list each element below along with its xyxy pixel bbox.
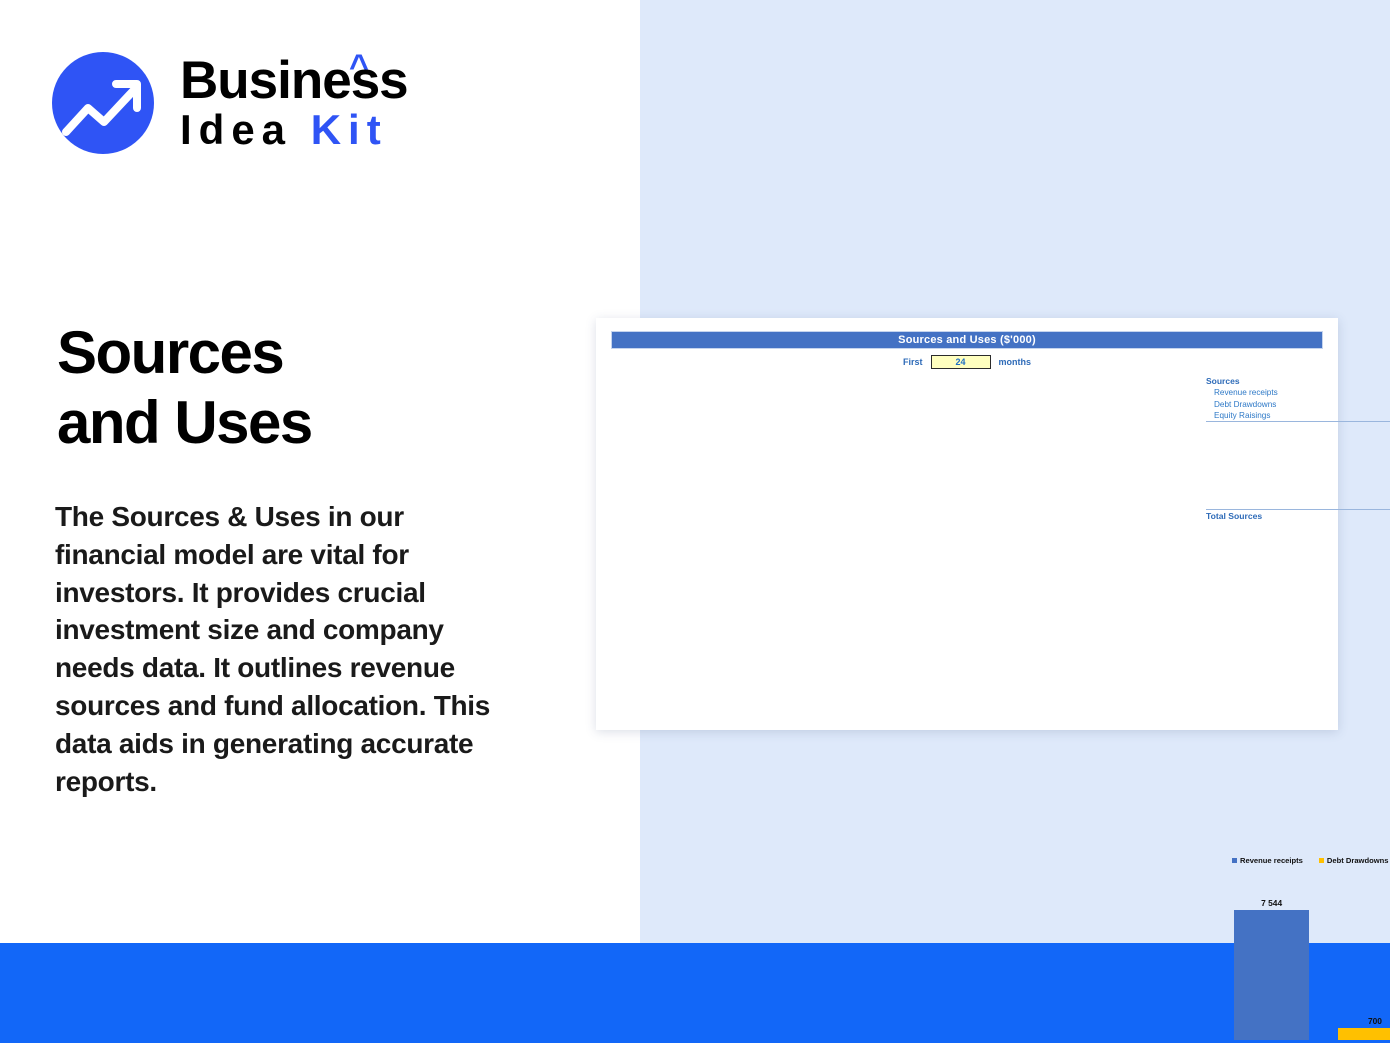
period-selector-row: First 24 months	[596, 354, 1338, 370]
legend-swatch-icon	[1232, 858, 1237, 863]
page-title: Sourcesand Uses	[57, 318, 617, 457]
sheet-title-bar: Sources and Uses ($'000)	[611, 331, 1323, 349]
table-row: Revenue receipts7 544,186,3%	[1206, 387, 1390, 399]
spreadsheet-screenshot-card: Sources and Uses ($'000) First 24 months…	[596, 318, 1338, 730]
legend-swatch-icon	[1319, 858, 1324, 863]
legend-label: Debt Drawdowns	[1327, 856, 1389, 865]
chart-bar	[1338, 1028, 1390, 1040]
sources-bar-chart: 7 544700500	[1220, 880, 1390, 1040]
period-suffix-label: months	[999, 357, 1032, 367]
months-input[interactable]: 24	[931, 355, 991, 369]
page-title-line-1: and Uses	[57, 388, 617, 458]
bottom-accent-bar	[0, 943, 1390, 1043]
table-row: Equity Raisings500,05,7%	[1206, 410, 1390, 422]
brand-logo: Business ^ Idea Kit	[52, 50, 472, 160]
chart-bar-value-label: 7 544	[1261, 898, 1282, 908]
sources-row-name: Equity Raisings	[1206, 411, 1390, 420]
chart-bar	[1234, 910, 1308, 1040]
legend-item: Revenue receipts	[1232, 856, 1303, 865]
trend-arrow-up-icon	[52, 52, 154, 154]
sources-total-row: Total Sources 8 744,1 100,0%	[1206, 509, 1390, 522]
page-title-line-0: Sources	[57, 318, 617, 388]
sources-total-label: Total Sources	[1206, 511, 1390, 521]
logo-wordmark-idea-kit: Idea Kit	[180, 109, 388, 151]
logo-word-kit: Kit	[311, 106, 388, 153]
sources-row-name: Debt Drawdowns	[1206, 400, 1390, 409]
logo-wordmark-business: Business	[180, 54, 408, 107]
chart-bar-group: 7 544	[1234, 880, 1308, 1040]
logo-circumflex-accent: ^	[349, 50, 369, 84]
sources-row-name: Revenue receipts	[1206, 388, 1390, 397]
table-row: Debt Drawdowns700,08,0%	[1206, 399, 1390, 411]
sources-table: Sources Revenue receipts7 544,186,3%Debt…	[1206, 376, 1390, 422]
sources-rows: Revenue receipts7 544,186,3%Debt Drawdow…	[1206, 387, 1390, 422]
sources-chart-legend: Revenue receiptsDebt DrawdownsEquity Rai…	[1232, 856, 1390, 865]
chart-bar-group: 700	[1338, 880, 1390, 1040]
legend-label: Revenue receipts	[1240, 856, 1303, 865]
legend-item: Debt Drawdowns	[1319, 856, 1389, 865]
chart-bar-value-label: 700	[1368, 1016, 1382, 1026]
logo-word-idea: Idea	[180, 106, 292, 153]
period-prefix-label: First	[903, 357, 923, 367]
page-description: The Sources & Uses in our financial mode…	[55, 498, 505, 800]
sources-heading: Sources	[1206, 376, 1390, 386]
